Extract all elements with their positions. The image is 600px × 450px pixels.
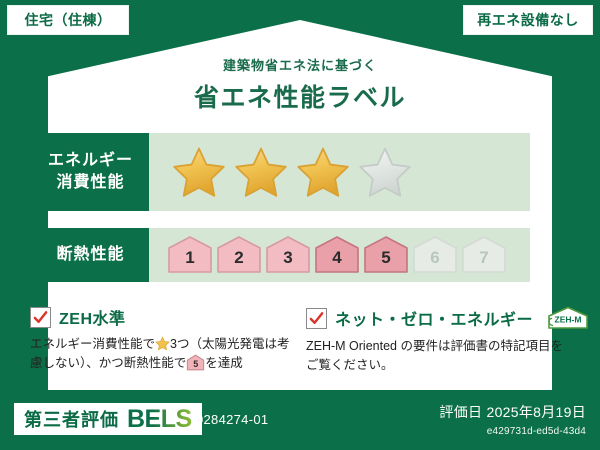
zeh-text-end: を達成 [205, 356, 243, 370]
insulation-level-label: 4 [314, 248, 360, 268]
zeh-standard-block: ZEH水準 エネルギー消費性能で3つ（太陽光発電は考慮しない）、かつ断熱性能で5… [30, 305, 300, 374]
star-filled-icon [233, 145, 289, 199]
title-subtitle: 建築物省エネ法に基づく [0, 55, 600, 74]
energy-performance-body [149, 133, 530, 211]
net-zero-energy-checkbox[interactable] [306, 308, 327, 329]
insulation-performance-row: 断熱性能 1234567 [32, 228, 530, 282]
insulation-performance-body: 1234567 [149, 228, 530, 282]
insulation-level-label: 3 [265, 248, 311, 268]
renewable-energy-tag: 再エネ設備なし [464, 6, 592, 34]
bels-jp-label: 第三者評価 [24, 406, 119, 432]
insulation-level-5: 5 [363, 235, 409, 275]
net-zero-energy-block: ネット・ゼロ・エネルギー ZEH-M ZEH-M Oriented ZEH-M … [306, 305, 574, 376]
insulation-level-label: 1 [167, 248, 213, 268]
evaluation-date: 評価日 2025年8月19日 [439, 402, 586, 422]
insulation-level-label: 2 [216, 248, 262, 268]
energy-performance-label: 住宅（住棟） 再エネ設備なし 建築物省エネ法に基づく 省エネ性能ラベル エネルギ… [0, 0, 600, 450]
insulation-level-7: 7 [461, 235, 507, 275]
insulation-level-2: 2 [216, 235, 262, 275]
net-zero-energy-title: ネット・ゼロ・エネルギー [335, 306, 533, 330]
inline-star-icon [155, 336, 170, 351]
inline-house-badge-value: 5 [186, 358, 205, 372]
energy-performance-header: エネルギー 消費性能 [32, 133, 149, 211]
bels-logo: 第三者評価 BELS [14, 403, 202, 435]
zeh-m-oriented-logo: ZEH-M ZEH-M Oriented [545, 305, 600, 331]
inline-house-badge: 5 [186, 354, 205, 371]
energy-header-line1: エネルギー [48, 150, 133, 172]
zeh-standard-heading: ZEH水準 [30, 305, 300, 329]
insulation-level-4: 4 [314, 235, 360, 275]
insulation-level-3: 3 [265, 235, 311, 275]
title-block: 建築物省エネ法に基づく 省エネ性能ラベル [0, 55, 600, 114]
net-zero-energy-heading: ネット・ゼロ・エネルギー ZEH-M ZEH-M Oriented [306, 305, 574, 331]
zeh-m-logo-text: ZEH-M [555, 315, 582, 325]
insulation-level-label: 7 [461, 248, 507, 268]
zeh-standard-checkbox[interactable] [30, 307, 51, 328]
insulation-level-1: 1 [167, 235, 213, 275]
net-zero-energy-description: ZEH-M Oriented の要件は評価書の特記項目をご覧ください。 [306, 337, 574, 376]
star-filled-icon [171, 145, 227, 199]
evaluation-info: 評価日 2025年8月19日 e429731d-ed5d-43d4 [439, 402, 586, 437]
zeh-standard-title: ZEH水準 [59, 305, 126, 329]
star-filled-icon [295, 145, 351, 199]
zeh-m-logo-sub2: Oriented [594, 318, 600, 324]
insulation-level-scale: 1234567 [149, 235, 507, 275]
star-empty-icon [357, 145, 413, 199]
bels-en-label: BELS [127, 405, 192, 434]
zeh-text-before-star: エネルギー消費性能で [30, 337, 155, 351]
insulation-performance-header: 断熱性能 [32, 228, 149, 282]
zeh-standard-description: エネルギー消費性能で3つ（太陽光発電は考慮しない）、かつ断熱性能で5を達成 [30, 335, 300, 374]
star-rating [149, 145, 413, 199]
insulation-level-6: 6 [412, 235, 458, 275]
insulation-level-label: 6 [412, 248, 458, 268]
energy-performance-row: エネルギー 消費性能 [32, 133, 530, 211]
evaluation-id: e429731d-ed5d-43d4 [439, 426, 586, 437]
energy-header-line2: 消費性能 [48, 172, 133, 194]
building-type-tag: 住宅（住棟） [8, 6, 128, 34]
page-title: 省エネ性能ラベル [0, 78, 600, 114]
insulation-level-label: 5 [363, 248, 409, 268]
bels-certificate-number: 0284274-01 [196, 412, 268, 427]
